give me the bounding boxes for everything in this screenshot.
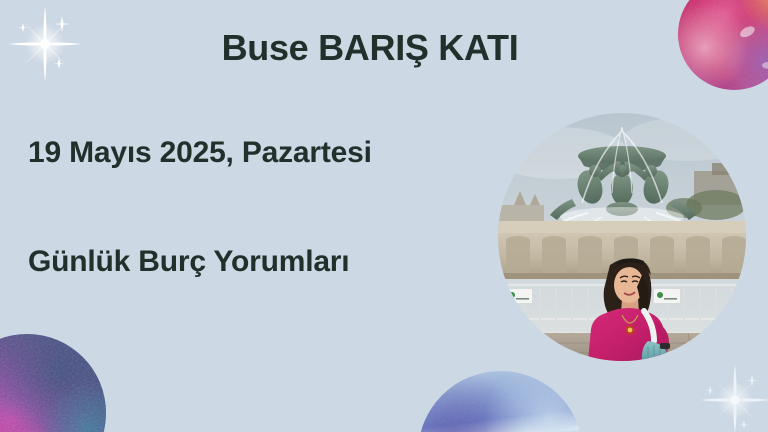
date-line: 19 Mayıs 2025, Pazartesi: [28, 136, 372, 170]
page-title: Buse BARIŞ KATI: [0, 27, 740, 69]
section-title: Günlük Burç Yorumları: [28, 245, 349, 279]
text-block: Buse BARIŞ KATI 19 Mayıs 2025, Pazartesi…: [0, 0, 768, 432]
horoscope-banner: Buse BARIŞ KATI 19 Mayıs 2025, Pazartesi…: [0, 0, 768, 432]
